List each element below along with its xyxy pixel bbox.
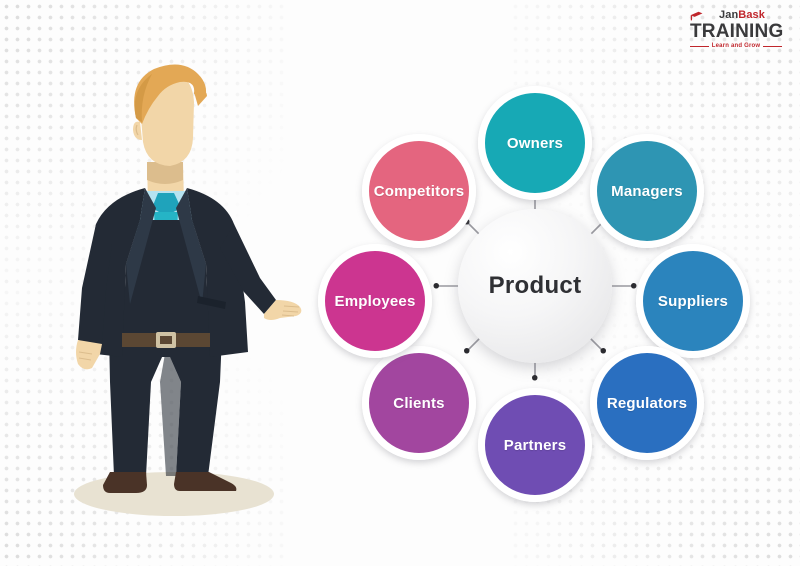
ear bbox=[133, 122, 142, 140]
logo-text-jan: Jan bbox=[719, 9, 738, 21]
node-suppliers-label: Suppliers bbox=[658, 293, 728, 310]
logo-rule-right bbox=[763, 46, 782, 47]
node-competitors-disc: Competitors bbox=[362, 134, 476, 248]
node-owners[interactable]: Owners bbox=[478, 86, 592, 200]
graduation-cap-icon bbox=[690, 11, 703, 24]
node-partners-disc: Partners bbox=[478, 388, 592, 502]
node-managers-label: Managers bbox=[611, 183, 683, 200]
node-suppliers-disc: Suppliers bbox=[636, 244, 750, 358]
node-owners-disc: Owners bbox=[478, 86, 592, 200]
node-employees-label: Employees bbox=[334, 293, 415, 310]
node-owners-label: Owners bbox=[507, 135, 563, 152]
node-regulators[interactable]: Regulators bbox=[590, 346, 704, 460]
left-hand bbox=[76, 340, 102, 369]
logo-name-row: JanBask bbox=[690, 10, 782, 21]
logo-text-training: TRAINING bbox=[690, 22, 782, 41]
left-shoe bbox=[103, 472, 147, 493]
right-shoe bbox=[174, 472, 236, 491]
diagram-canvas: JanBask TRAINING Learn and Grow bbox=[0, 0, 800, 566]
logo-tagline-row: Learn and Grow bbox=[690, 43, 782, 49]
node-clients[interactable]: Clients bbox=[362, 346, 476, 460]
node-managers-disc: Managers bbox=[590, 134, 704, 248]
logo-tagline: Learn and Grow bbox=[712, 43, 760, 49]
janbask-training-logo: JanBask TRAINING Learn and Grow bbox=[690, 10, 782, 49]
node-employees[interactable]: Employees bbox=[318, 244, 432, 358]
logo-rule-left bbox=[690, 46, 709, 47]
node-regulators-label: Regulators bbox=[607, 395, 687, 412]
stakeholder-diagram: Owners Managers Suppliers Regulators Par… bbox=[300, 58, 770, 508]
node-partners-label: Partners bbox=[504, 437, 566, 454]
node-competitors-label: Competitors bbox=[374, 183, 465, 200]
node-competitors[interactable]: Competitors bbox=[362, 134, 476, 248]
node-partners[interactable]: Partners bbox=[478, 388, 592, 502]
node-regulators-disc: Regulators bbox=[590, 346, 704, 460]
node-managers[interactable]: Managers bbox=[590, 134, 704, 248]
floor-shadow bbox=[74, 472, 274, 516]
businessman-illustration bbox=[48, 52, 308, 522]
logo-text-bask: Bask bbox=[738, 9, 765, 21]
node-clients-label: Clients bbox=[393, 395, 444, 412]
node-product-label: Product bbox=[489, 272, 582, 300]
node-suppliers[interactable]: Suppliers bbox=[636, 244, 750, 358]
node-employees-disc: Employees bbox=[318, 244, 432, 358]
node-product-center[interactable]: Product bbox=[458, 209, 612, 363]
node-clients-disc: Clients bbox=[362, 346, 476, 460]
